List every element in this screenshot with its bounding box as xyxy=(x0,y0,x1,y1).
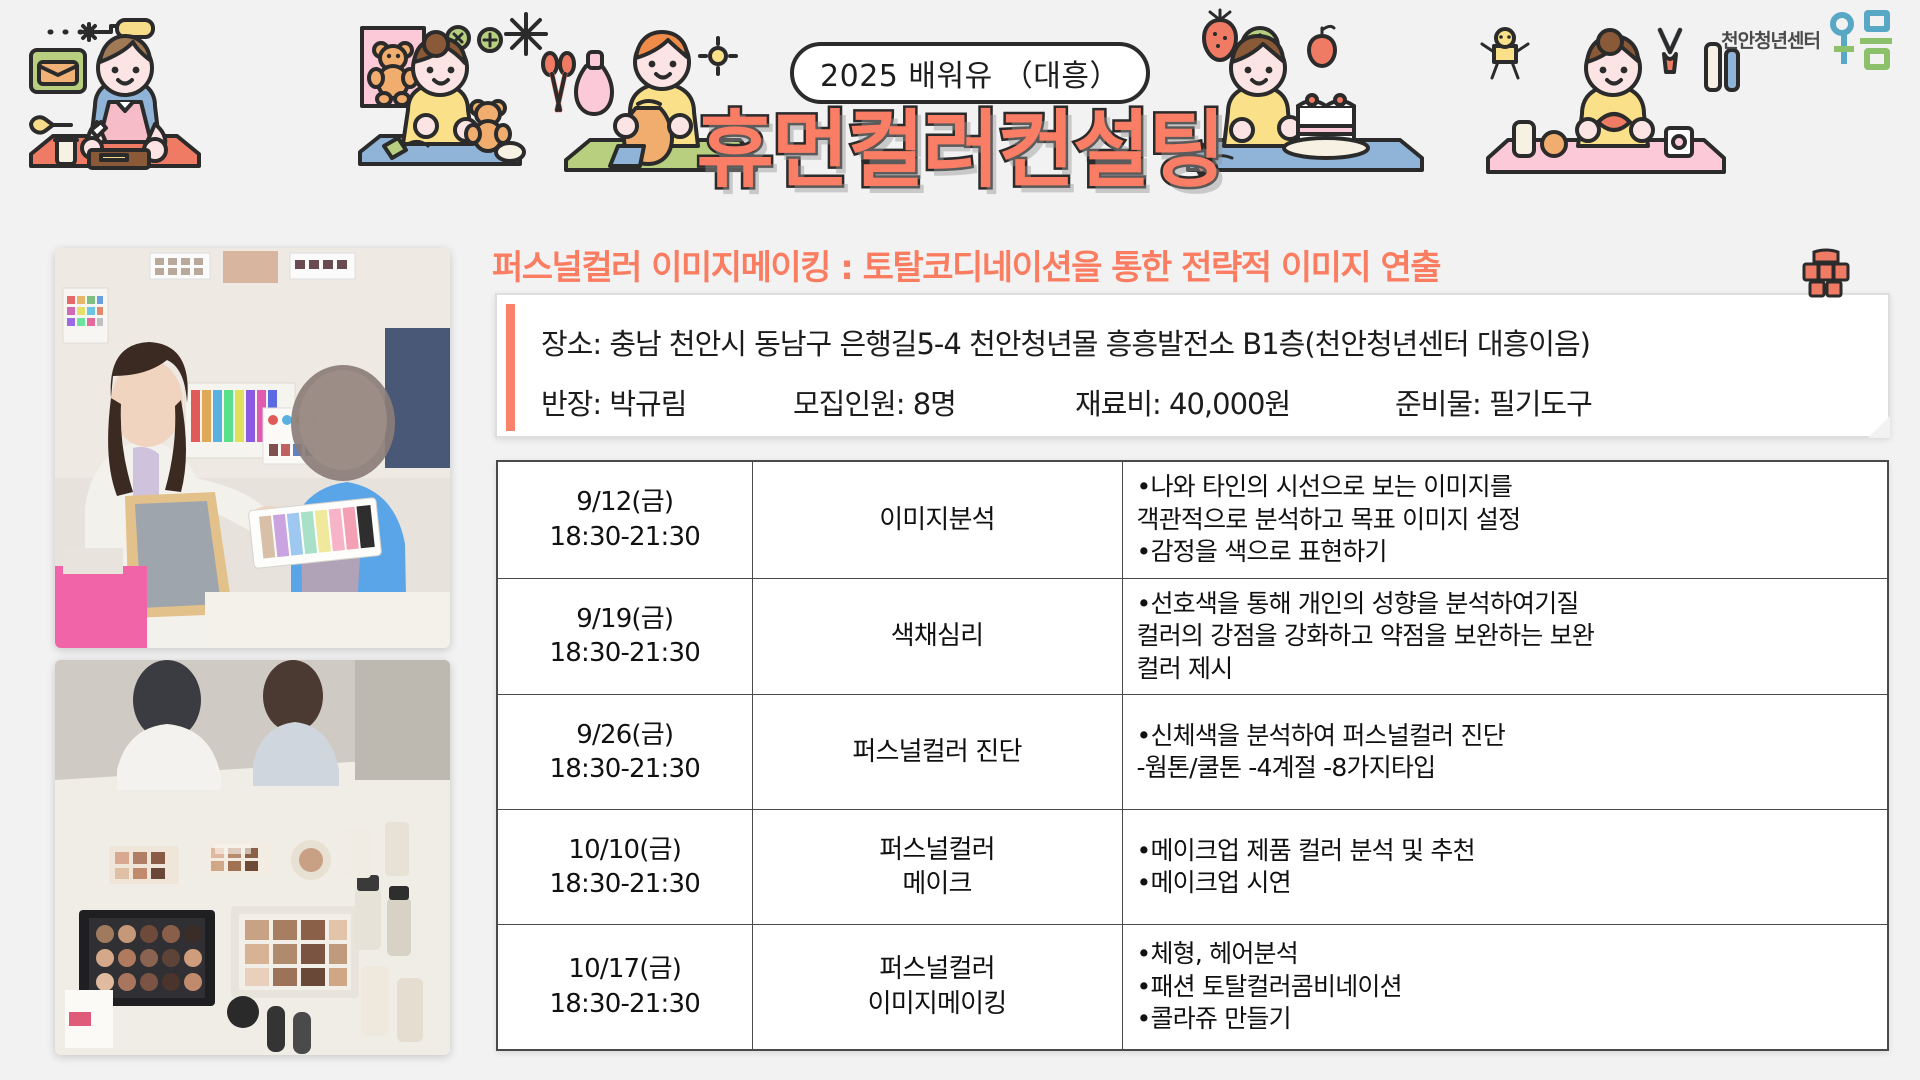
table-row: 10/10(금) 18:30-21:30 퍼스널컬러 메이크 •메이크업 제품 … xyxy=(497,810,1888,925)
desc-line: •패션 토탈컬러콤비네이션 xyxy=(1137,971,1884,1004)
topic-line: 색채심리 xyxy=(891,621,983,651)
info-supplies: 준비물: 필기도구 xyxy=(1395,381,1592,423)
topic-line: 이미지분석 xyxy=(879,505,995,535)
cell-date: 9/26(금) 18:30-21:30 xyxy=(497,695,752,810)
photo-consulting-session xyxy=(55,248,450,648)
schedule-table: 9/12(금) 18:30-21:30 이미지분석 •나와 타인의 시선으로 보… xyxy=(496,460,1889,1051)
desc-line: 컬러의 강점을 강화하고 약점을 보완하는 보완 xyxy=(1137,620,1884,653)
course-info-box: 장소: 충남 천안시 동남구 은행길5-4 천안청년몰 흥흥발전소 B1층(천안… xyxy=(495,293,1890,438)
table-row: 10/17(금) 18:30-21:30 퍼스널컬러 이미지메이킹 •체형, 헤… xyxy=(497,925,1888,1050)
brand-logo: 천안청년센터 xyxy=(1721,8,1892,70)
desc-line: 컬러 제시 xyxy=(1137,653,1884,686)
desc-line: •콜라쥬 만들기 xyxy=(1137,1003,1884,1036)
info-capacity: 모집인원: 8명 xyxy=(793,381,1075,423)
topic-line: 이미지메이킹 xyxy=(868,989,1007,1019)
cell-description: •나와 타인의 시선으로 보는 이미지를 객관적으로 분석하고 목표 이미지 설… xyxy=(1122,461,1888,578)
page-title: 휴먼컬러컨설팅 xyxy=(0,108,1920,192)
photo-makeup-products xyxy=(55,660,450,1055)
cell-topic: 색채심리 xyxy=(752,578,1122,695)
cell-date: 9/12(금) 18:30-21:30 xyxy=(497,461,752,578)
topic-line: 퍼스널컬러 xyxy=(879,954,995,984)
event-badge: 2025 배워유 （대흥） xyxy=(790,42,1150,104)
desc-line: •메이크업 시연 xyxy=(1137,867,1884,900)
info-material-fee: 재료비: 40,000원 xyxy=(1075,381,1395,423)
desc-line: •나와 타인의 시선으로 보는 이미지를 xyxy=(1137,471,1884,504)
date-text: 9/19(금) xyxy=(576,604,673,634)
cell-topic: 퍼스널컬러 이미지메이킹 xyxy=(752,925,1122,1050)
date-text: 10/10(금) xyxy=(568,835,681,865)
date-text: 10/17(금) xyxy=(568,954,681,984)
brand-name: 천안청년센터 xyxy=(1721,26,1820,53)
course-subtitle: 퍼스널컬러 이미지메이킹 : 토탈코디네이션을 통한 전략적 이미지 연출 xyxy=(492,240,1892,289)
cell-topic: 퍼스널컬러 진단 xyxy=(752,695,1122,810)
info-details-row: 반장: 박규림 모집인원: 8명 재료비: 40,000원 준비물: 필기도구 xyxy=(541,381,1592,423)
date-text: 9/26(금) xyxy=(576,720,673,750)
desc-line: •체형, 헤어분석 xyxy=(1137,938,1884,971)
cell-topic: 퍼스널컬러 메이크 xyxy=(752,810,1122,925)
cell-description: •선호색을 통해 개인의 성향을 분석하여기질 컬러의 강점을 강화하고 약점을… xyxy=(1122,578,1888,695)
time-text: 18:30-21:30 xyxy=(550,754,700,784)
cell-date: 9/19(금) 18:30-21:30 xyxy=(497,578,752,695)
time-text: 18:30-21:30 xyxy=(550,522,700,552)
table-row: 9/12(금) 18:30-21:30 이미지분석 •나와 타인의 시선으로 보… xyxy=(497,461,1888,578)
schedule-table-body: 9/12(금) 18:30-21:30 이미지분석 •나와 타인의 시선으로 보… xyxy=(497,461,1888,1050)
cell-description: •메이크업 제품 컬러 분석 및 추천 •메이크업 시연 xyxy=(1122,810,1888,925)
poster-header: 2025 배워유 （대흥） 휴먼컬러컨설팅 천안청년센터 xyxy=(0,0,1920,215)
table-row: 9/19(금) 18:30-21:30 색채심리 •선호색을 통해 개인의 성향… xyxy=(497,578,1888,695)
topic-line: 메이크 xyxy=(902,869,971,899)
desc-line: -웜톤/쿨톤 -4계절 -8가지타입 xyxy=(1137,752,1884,785)
cell-date: 10/10(금) 18:30-21:30 xyxy=(497,810,752,925)
time-text: 18:30-21:30 xyxy=(550,869,700,899)
desc-line: •신체색을 분석하여 퍼스널컬러 진단 xyxy=(1137,720,1884,753)
cell-description: •체형, 헤어분석 •패션 토탈컬러콤비네이션 •콜라쥬 만들기 xyxy=(1122,925,1888,1050)
time-text: 18:30-21:30 xyxy=(550,638,700,668)
badge-label: 2025 배워유 （대흥） xyxy=(820,51,1120,95)
cell-description: •신체색을 분석하여 퍼스널컬러 진단 -웜톤/쿨톤 -4계절 -8가지타입 xyxy=(1122,695,1888,810)
desc-line: •감정을 색으로 표현하기 xyxy=(1137,536,1884,569)
paper-clip-icon xyxy=(1800,248,1852,310)
topic-line: 퍼스널컬러 xyxy=(879,835,995,865)
topic-line: 퍼스널컬러 진단 xyxy=(852,737,1021,767)
date-text: 9/12(금) xyxy=(576,487,673,517)
time-text: 18:30-21:30 xyxy=(550,989,700,1019)
desc-line: •선호색을 통해 개인의 성향을 분석하여기질 xyxy=(1137,588,1884,621)
cell-topic: 이미지분석 xyxy=(752,461,1122,578)
desc-line: 객관적으로 분석하고 목표 이미지 설정 xyxy=(1137,504,1884,537)
ieum-logo-icon xyxy=(1830,8,1892,70)
table-row: 9/26(금) 18:30-21:30 퍼스널컬러 진단 •신체색을 분석하여 … xyxy=(497,695,1888,810)
info-location: 장소: 충남 천안시 동남구 은행길5-4 천안청년몰 흥흥발전소 B1층(천안… xyxy=(541,321,1590,363)
cell-date: 10/17(금) 18:30-21:30 xyxy=(497,925,752,1050)
info-accent-bar xyxy=(506,304,515,431)
info-instructor: 반장: 박규림 xyxy=(541,381,793,423)
desc-line: •메이크업 제품 컬러 분석 및 추천 xyxy=(1137,835,1884,868)
